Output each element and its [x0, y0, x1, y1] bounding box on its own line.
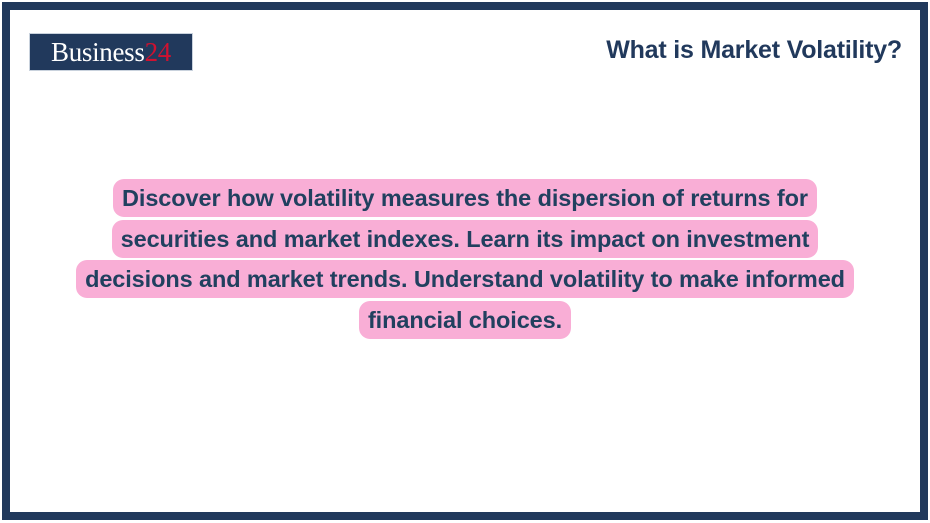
slide-border-frame: Business24 What is Market Volatility? Di…	[2, 2, 928, 520]
highlighted-paragraph: Discover how volatility measures the dis…	[65, 178, 865, 340]
brand-logo-text: Business24	[51, 39, 171, 66]
page-title: What is Market Volatility?	[606, 36, 902, 65]
slide-header: Business24 What is Market Volatility?	[10, 10, 920, 82]
brand-logo-word: Business	[51, 37, 145, 67]
highlighted-text: Discover how volatility measures the dis…	[76, 179, 854, 339]
brand-logo-number: 24	[145, 37, 171, 67]
slide-content-area: Business24 What is Market Volatility? Di…	[10, 10, 920, 512]
slide: Business24 What is Market Volatility? Di…	[0, 0, 930, 523]
slide-body: Discover how volatility measures the dis…	[10, 82, 920, 512]
brand-logo[interactable]: Business24	[29, 33, 193, 71]
